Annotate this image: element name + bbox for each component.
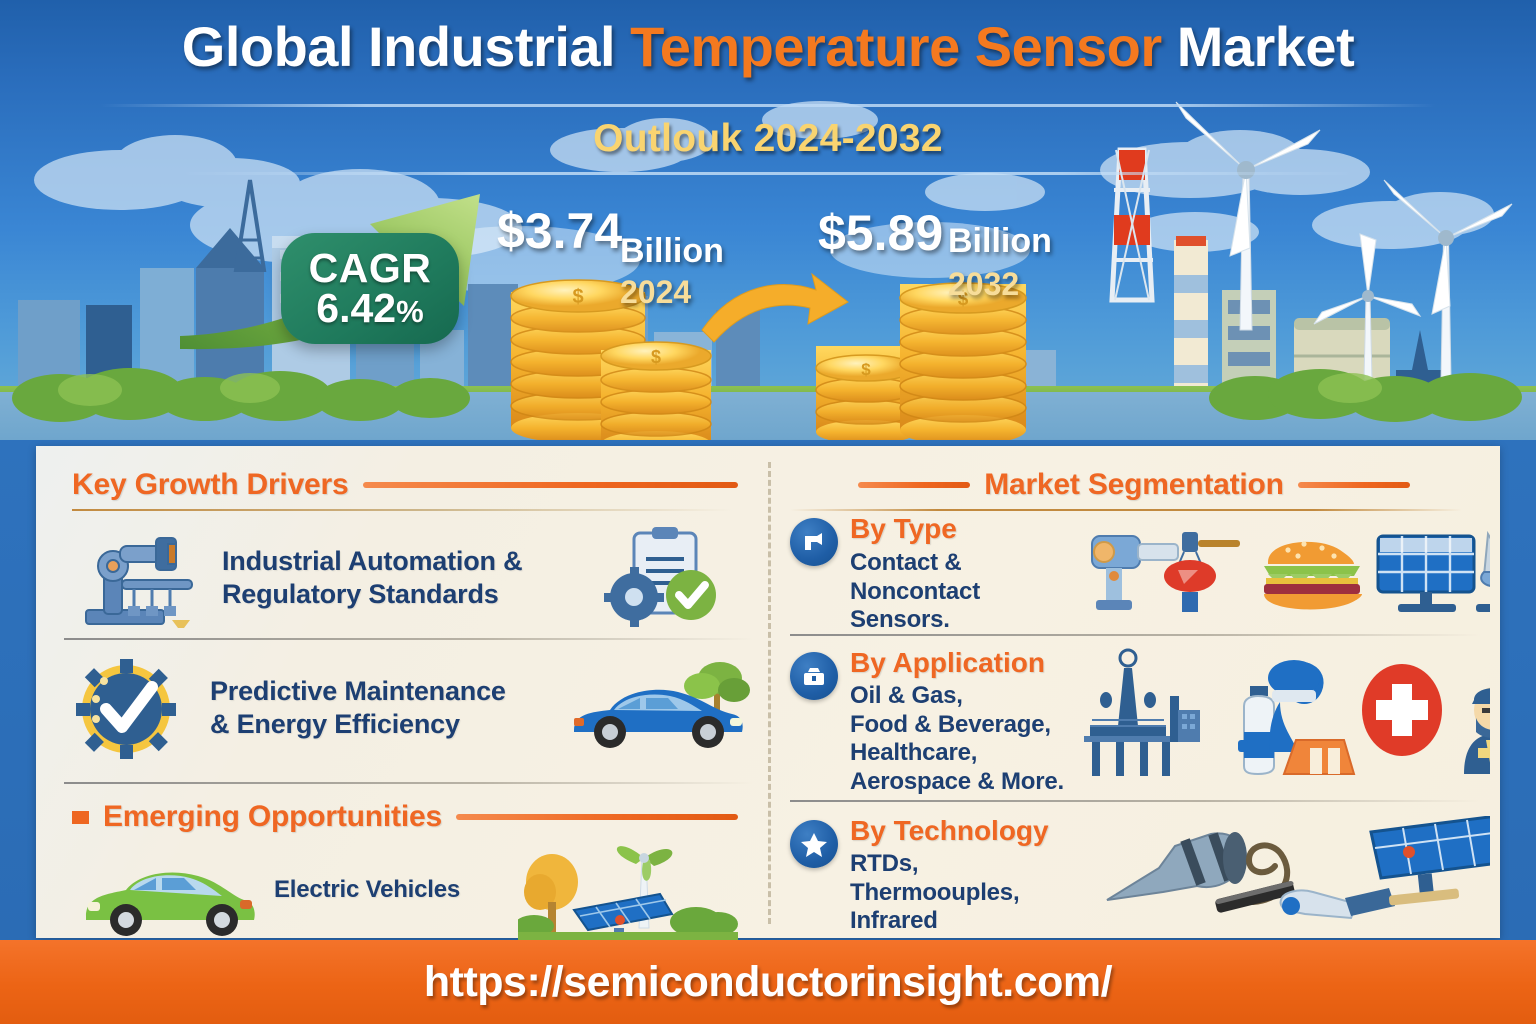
segment-3-title: By Technology — [850, 816, 1089, 847]
segment-2-line-4: Aerospace & More. — [850, 768, 1068, 797]
sensor-probe-icon — [790, 518, 838, 566]
opportunity-label: Electric Vehicles — [274, 875, 518, 904]
segment-2-art — [1072, 648, 1490, 780]
figure-2032: $5.89 — [818, 208, 943, 258]
ir-probe-icon — [1280, 888, 1394, 918]
segment-3-line-1: RTDs, Thermoouples, — [850, 850, 1089, 908]
cagr-percent: % — [396, 294, 424, 329]
medical-cross-icon — [1362, 664, 1442, 756]
driver-1-text: Industrial Automation & Regulatory Stand… — [222, 545, 592, 611]
figure-2032-amount: $5.89 — [818, 208, 943, 258]
subtitle-divider — [180, 172, 1356, 175]
driver-1-line2: Regulatory Standards — [222, 578, 592, 611]
segment-2-text: By Application Oil & Gas, Food & Beverag… — [850, 648, 1068, 797]
right-panel-heading: Market Segmentation — [984, 468, 1284, 502]
worker-icon — [1464, 687, 1490, 774]
driver-row-2: Predictive Maintenance & Energy Efficien… — [64, 650, 754, 766]
segment-separator-2 — [790, 800, 1480, 802]
burger-icon — [1264, 541, 1362, 609]
segment-3-text: By Technology RTDs, Thermoouples, Infrar… — [850, 816, 1089, 936]
sensor-probe-blue — [1268, 660, 1320, 752]
key-growth-drivers-section: Key Growth Drivers — [72, 468, 738, 511]
driver-row-1: Industrial Automation & Regulatory Stand… — [64, 520, 754, 636]
robot-arm-icon — [64, 524, 214, 632]
figure-2032-year: 2032 — [948, 268, 1052, 300]
segment-1-text: By Type Contact & Noncontact Sensors. — [850, 514, 1068, 635]
market-segmentation-section: Market Segmentation — [790, 468, 1478, 511]
cagr-badge: CAGR 6.42% — [281, 233, 459, 344]
left-panel-heading: Key Growth Drivers — [72, 468, 349, 502]
header-banner: CAGR 6.42% Global Industrial Temperature… — [0, 0, 1536, 440]
opportunity-row: Electric Vehicles — [64, 840, 764, 940]
svg-text:$: $ — [572, 286, 583, 308]
star-icon — [790, 820, 838, 868]
briefcase-icon — [790, 652, 838, 700]
driver-2-line1: Predictive Maintenance — [210, 675, 562, 708]
heading-rule — [363, 482, 739, 488]
page-title: Global Industrial Temperature Sensor Mar… — [0, 14, 1536, 79]
footer-url[interactable]: https://semiconductorinsight.com/ — [424, 958, 1112, 1007]
segment-2-title: By Application — [850, 648, 1068, 679]
segment-separator-1 — [790, 634, 1480, 636]
segment-3-art — [1089, 816, 1490, 934]
figure-2024-meta: Billion 2024 — [620, 234, 724, 308]
driver-separator-2 — [64, 782, 754, 784]
figure-2024-unit: Billion — [620, 234, 724, 268]
panel-divider — [768, 462, 771, 924]
driver-separator-1 — [64, 638, 754, 640]
title-divider — [100, 104, 1436, 107]
figure-2024-year: 2024 — [620, 276, 724, 308]
green-ev-car-icon — [64, 840, 264, 940]
figure-2024: $3.74 — [497, 206, 622, 256]
emerging-heading-rule — [456, 814, 738, 820]
driver-2-line2: & Energy Efficiency — [210, 708, 562, 741]
emerging-heading-row: Emerging Opportunities — [72, 800, 738, 834]
segmentation-thin-rule — [790, 509, 1462, 511]
infographic-root: CAGR 6.42% Global Industrial Temperature… — [0, 0, 1536, 1024]
oil-rig-icon — [1084, 650, 1200, 776]
emerging-heading: Emerging Opportunities — [103, 800, 442, 834]
segment-row-by-application: By Application Oil & Gas, Food & Beverag… — [790, 648, 1490, 798]
footer-bar: https://semiconductorinsight.com/ — [0, 940, 1536, 1024]
title-part2: Market — [1162, 15, 1355, 78]
bullet-square-icon — [72, 811, 89, 824]
segment-1-line-2: Noncontact Sensors. — [850, 578, 1068, 636]
heading-thin-rule — [72, 509, 732, 511]
segment-3-line-2: Infrared — [850, 907, 1089, 936]
driver-1-line1: Industrial Automation & — [222, 545, 592, 578]
blue-car-icon — [562, 652, 752, 764]
beverage-bottle-icon — [1238, 660, 1354, 774]
gear-clipboard-check-icon — [592, 523, 732, 633]
segment-row-by-type: By Type Contact & Noncontact Sensors. — [790, 514, 1490, 632]
left-panel-heading-row: Key Growth Drivers — [72, 468, 738, 502]
segment-row-by-technology: By Technology RTDs, Thermoouples, Infrar… — [790, 816, 1490, 936]
infrared-sensor-icon — [1107, 832, 1247, 900]
gear-gauge-check-icon — [64, 653, 204, 763]
segment-1-line-1: Contact & — [850, 549, 1068, 578]
emerging-opportunities-section: Emerging Opportunities — [72, 800, 738, 834]
segment-2-line-2: Food & Beverage, — [850, 711, 1068, 740]
solar-panel-icon — [1378, 536, 1474, 612]
cagr-value: 6.42 — [316, 285, 396, 331]
segment-2-line-3: Healthcare, — [850, 739, 1068, 768]
title-part1: Global Industrial — [182, 15, 630, 78]
figure-2032-meta: Billion 2032 — [948, 224, 1052, 300]
segment-1-title: By Type — [850, 514, 1068, 545]
svg-text:$: $ — [651, 347, 661, 367]
right-panel-heading-row: Market Segmentation — [790, 468, 1478, 502]
figure-2032-unit: Billion — [948, 224, 1052, 258]
satellite-dish-icon — [1476, 534, 1490, 612]
solar-panel-wind-turbine-icon — [518, 838, 738, 942]
figure-2024-amount: $3.74 — [497, 206, 622, 256]
svg-text:$: $ — [861, 360, 871, 379]
segmentation-rule-left — [858, 482, 970, 488]
cagr-label: CAGR — [309, 248, 432, 288]
segmentation-rule-right — [1298, 482, 1410, 488]
segment-1-art — [1072, 514, 1490, 626]
title-accent: Temperature Sensor — [630, 15, 1161, 78]
page-subtitle: Outlouk 2024-2032 — [0, 117, 1536, 161]
driver-2-text: Predictive Maintenance & Energy Efficien… — [210, 675, 562, 741]
segment-2-line-1: Oil & Gas, — [850, 682, 1068, 711]
bushes-icon — [0, 354, 1536, 424]
